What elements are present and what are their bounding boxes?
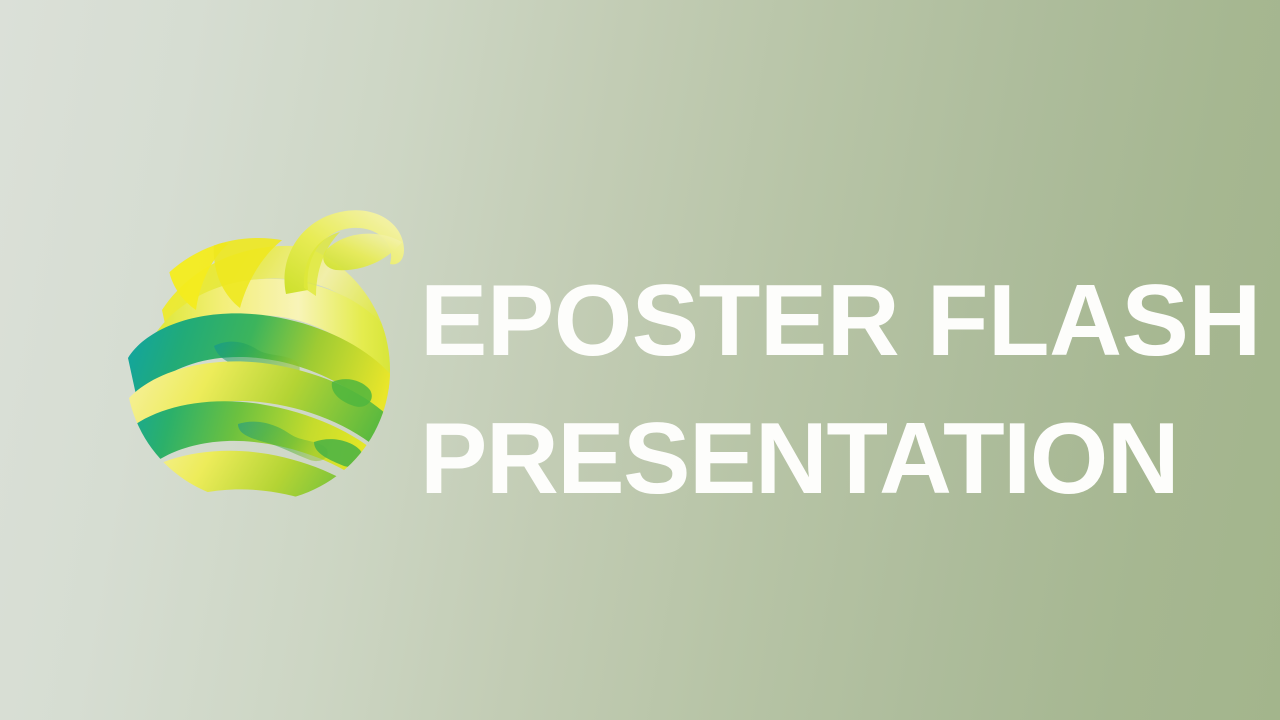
brand-logo bbox=[118, 198, 408, 518]
title-line-2: PRESENTATION bbox=[420, 390, 1220, 528]
presentation-slide: EPOSTER FLASH PRESENTATION bbox=[0, 0, 1280, 720]
slide-title: EPOSTER FLASH PRESENTATION bbox=[420, 252, 1220, 528]
globe-leaf-icon bbox=[118, 198, 408, 518]
globe-ribbons bbox=[118, 230, 408, 518]
title-line-1: EPOSTER FLASH bbox=[420, 252, 1220, 390]
